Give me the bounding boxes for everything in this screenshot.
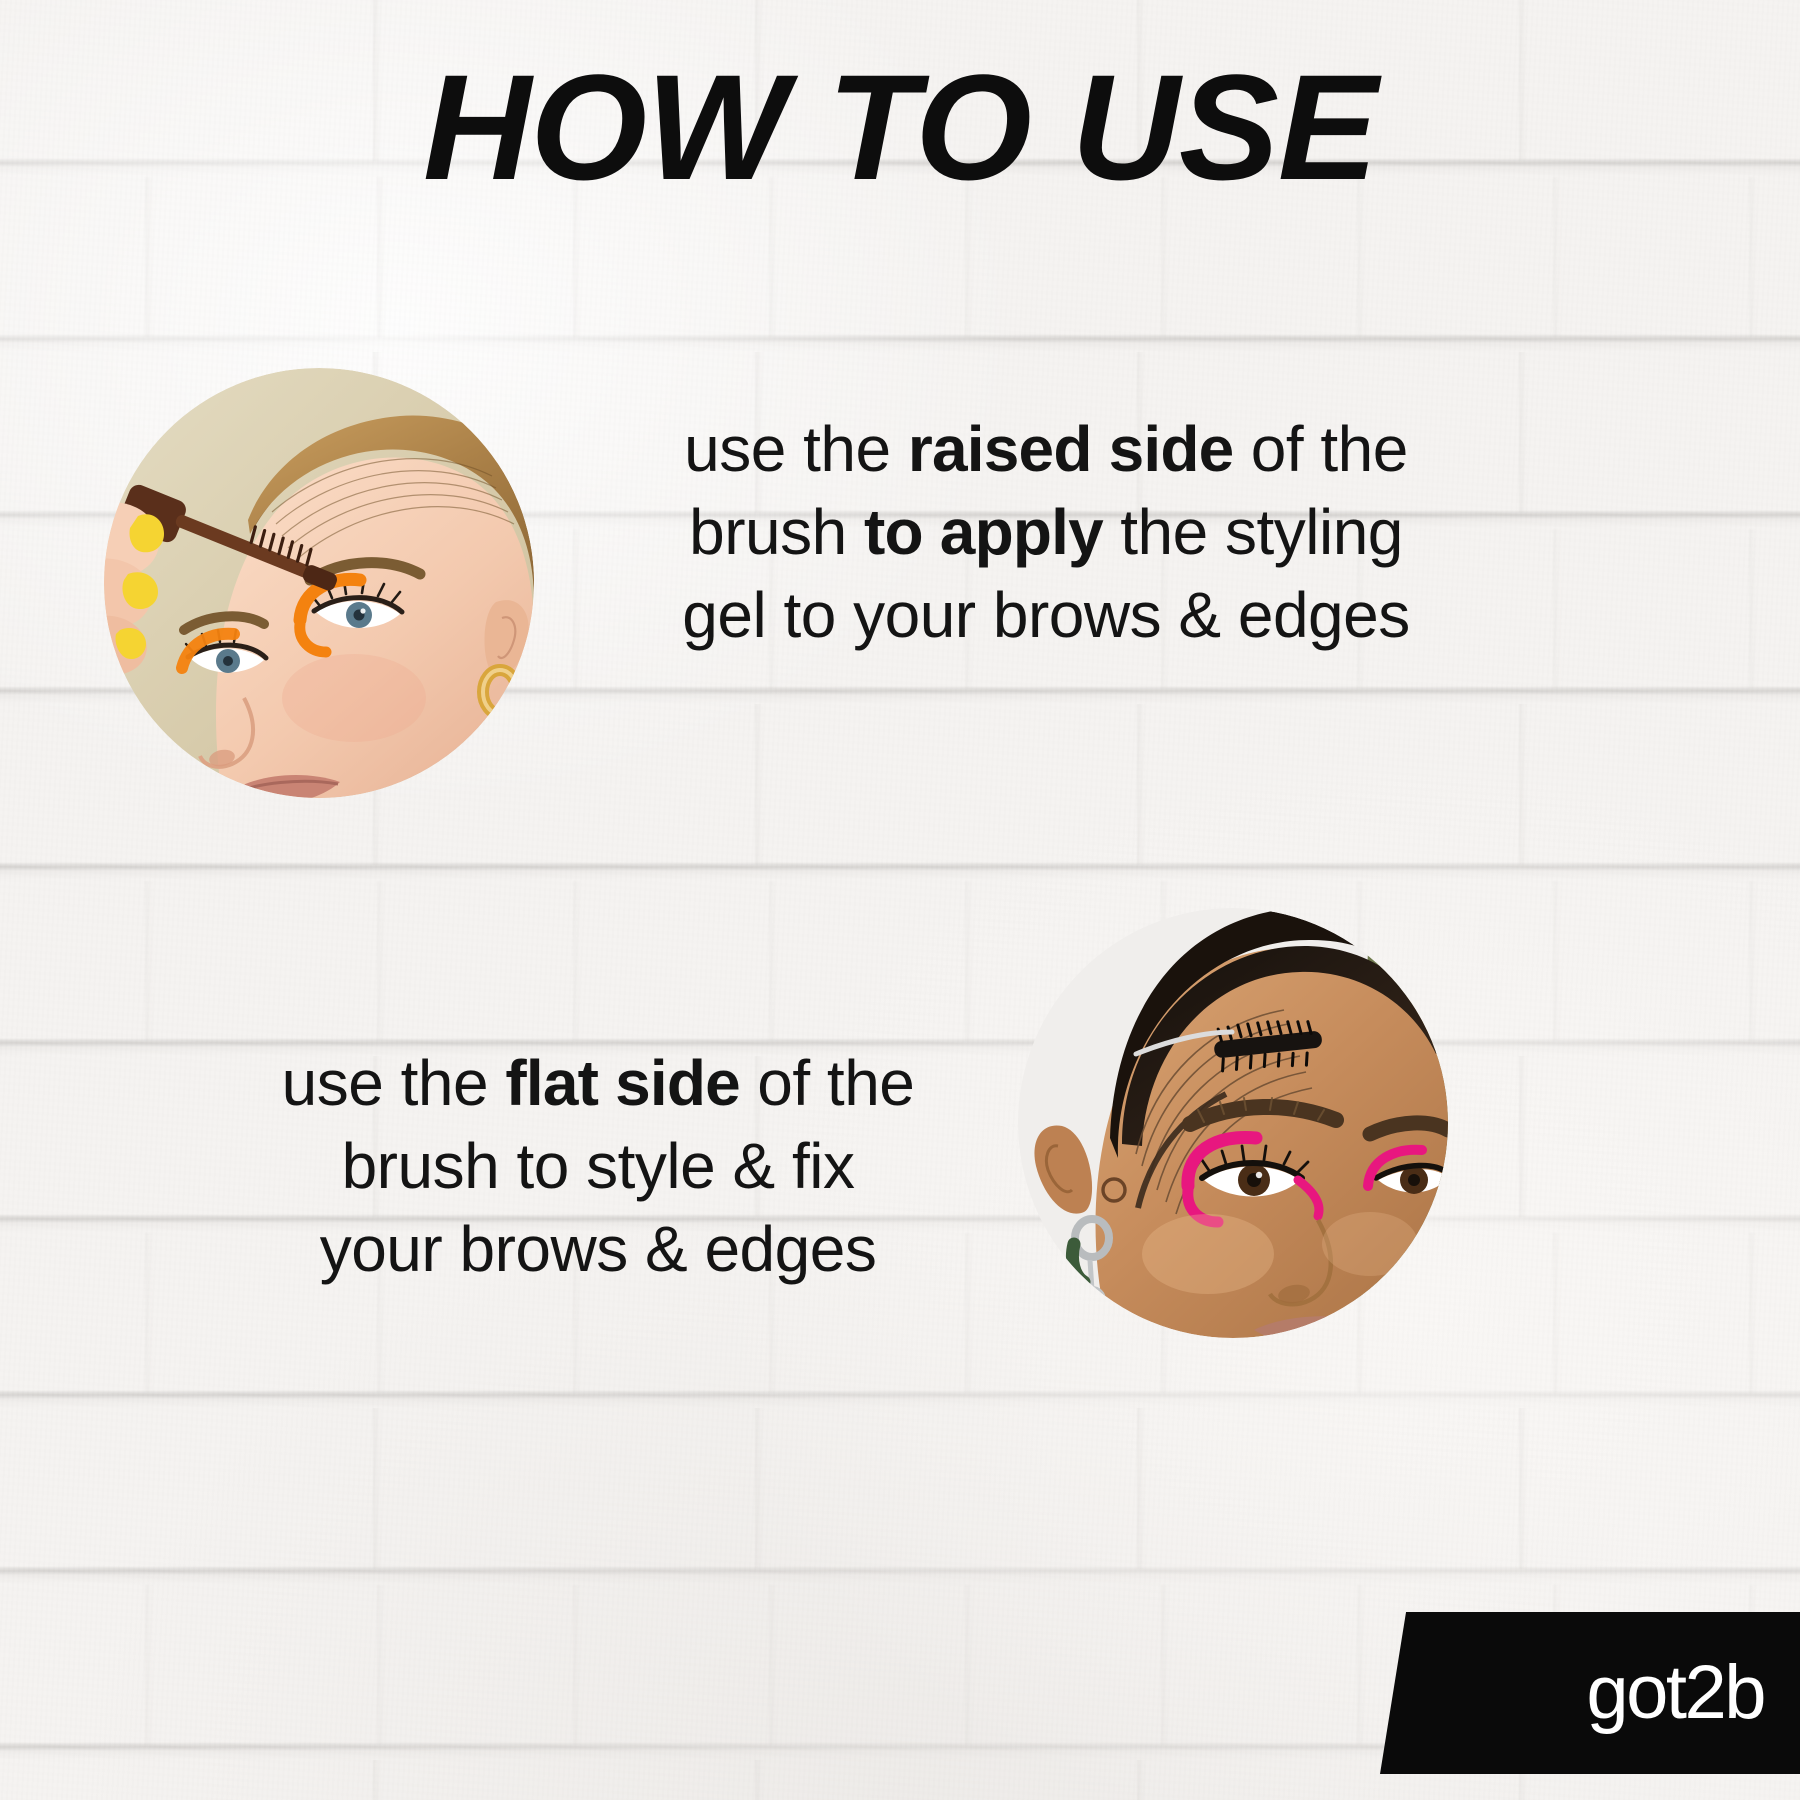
copy-run: the styling: [1103, 496, 1403, 568]
photo-brow-gel: [104, 368, 534, 798]
copy-run: of the: [1233, 413, 1407, 485]
copy-line: use the raised side of the: [596, 408, 1496, 491]
copy-run-bold: raised side: [908, 413, 1234, 485]
wall-paint-grain: [0, 0, 1800, 1800]
copy-run: gel to your brows & edges: [682, 579, 1409, 651]
photo-edges: [1018, 908, 1448, 1338]
copy-run-bold: flat side: [505, 1047, 740, 1119]
step-raised-side-text: use the raised side of the brush to appl…: [596, 408, 1496, 658]
step-flat-side-text: use the flat side of the brush to style …: [178, 1042, 1018, 1292]
copy-line: brush to style & fix: [178, 1125, 1018, 1208]
copy-line: use the flat side of the: [178, 1042, 1018, 1125]
copy-run: use the: [684, 413, 908, 485]
copy-run: brush: [689, 496, 864, 568]
how-to-use-card: HOW TO USE: [0, 0, 1800, 1800]
copy-run: of the: [740, 1047, 914, 1119]
copy-line: brush to apply the styling: [596, 491, 1496, 574]
copy-run: brush to style & fix: [342, 1130, 855, 1202]
copy-line: gel to your brows & edges: [596, 574, 1496, 657]
got2b-logo-banner: got2b: [1380, 1612, 1800, 1774]
copy-run: use the: [282, 1047, 506, 1119]
copy-run: your brows & edges: [320, 1213, 877, 1285]
copy-run-bold: to apply: [864, 496, 1103, 568]
got2b-wordmark: got2b: [1586, 1655, 1764, 1731]
copy-line: your brows & edges: [178, 1208, 1018, 1291]
page-title: HOW TO USE: [0, 52, 1800, 202]
